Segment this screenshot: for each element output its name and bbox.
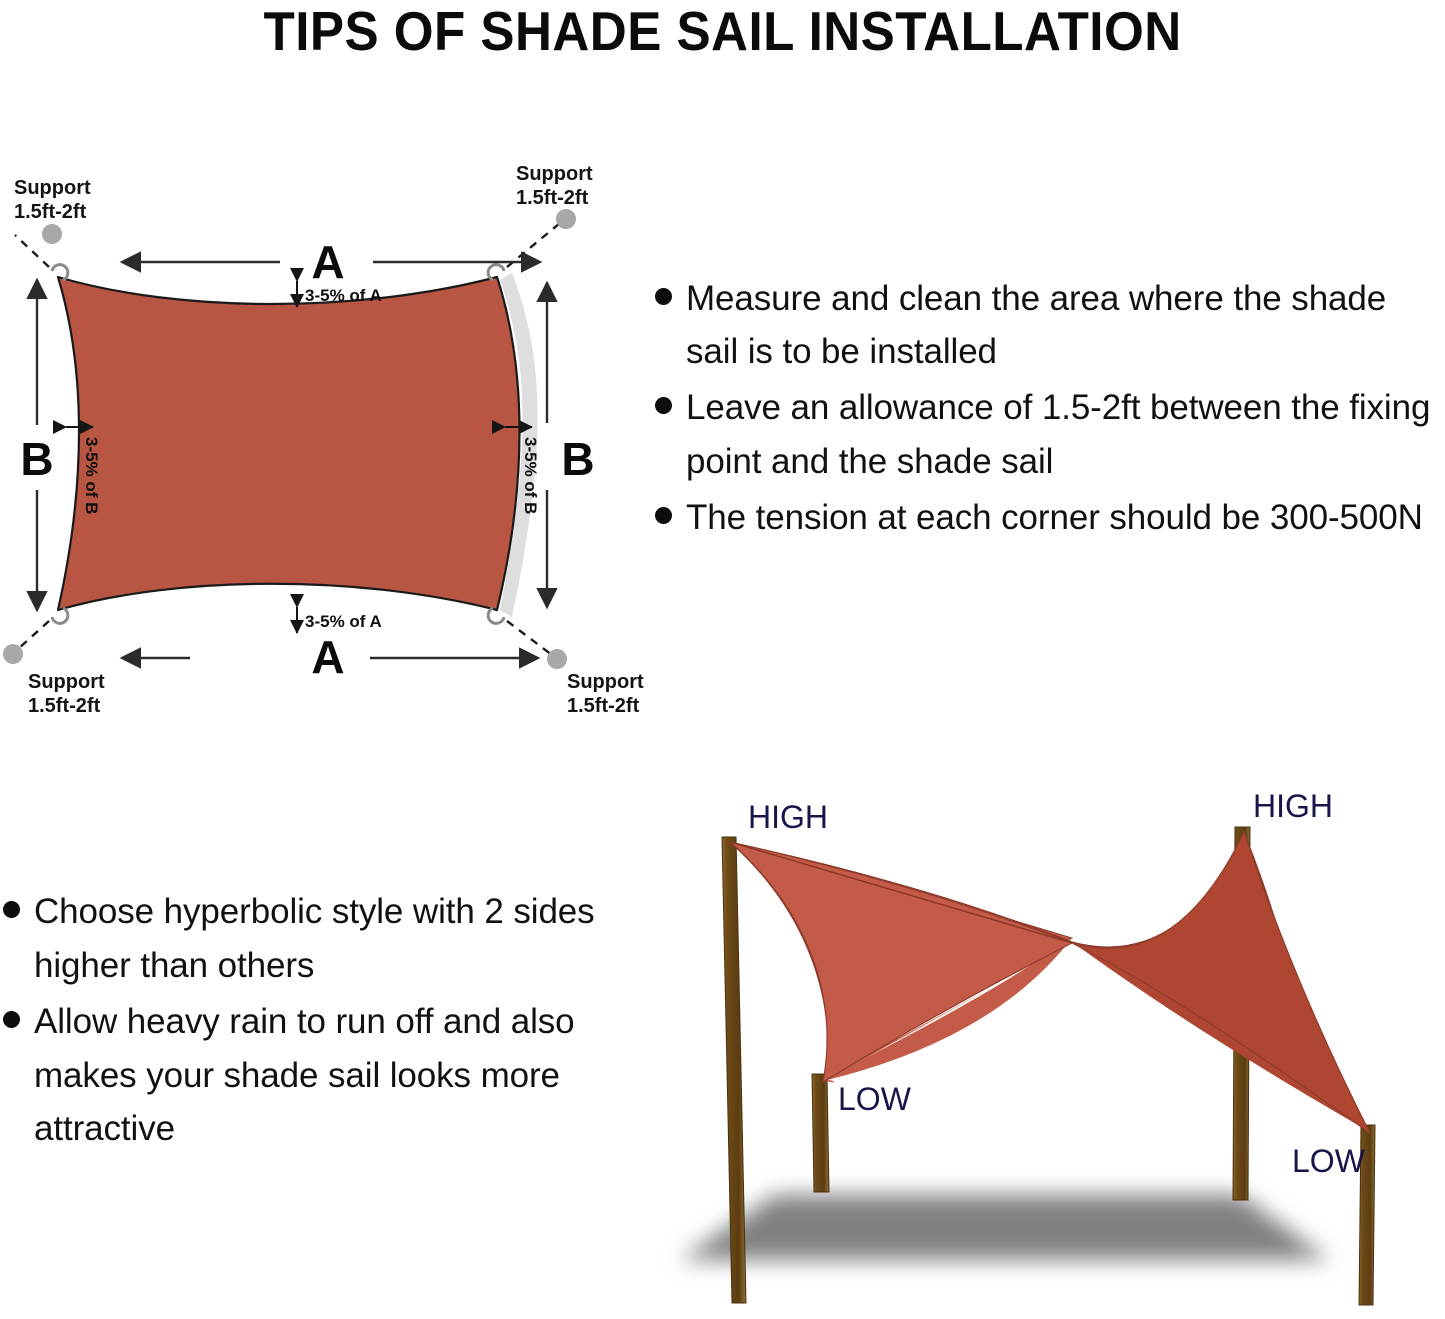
installation-tips-right-list: Measure and clean the area where the sha… (655, 272, 1445, 547)
support-label-top-right: Support 1.5ft-2ft (516, 163, 593, 209)
svg-text:1.5ft-2ft: 1.5ft-2ft (14, 201, 87, 223)
support-dot-bottom-right (547, 649, 567, 669)
ground-shadow (680, 1195, 1330, 1260)
page-title: TIPS OF SHADE SAIL INSTALLATION (263, 4, 1181, 59)
post-low-left (812, 1074, 829, 1192)
dimension-top-A: A (122, 236, 540, 288)
svg-text:1.5ft-2ft: 1.5ft-2ft (516, 187, 589, 209)
svg-text:1.5ft-2ft: 1.5ft-2ft (28, 695, 101, 717)
installation-tips-left-list: Choose hyperbolic style with 2 sides hig… (3, 885, 628, 1159)
bullet-dot-icon (655, 507, 672, 524)
bullet-dot-icon (655, 288, 672, 305)
support-dot-top-left (42, 224, 62, 244)
list-item: Choose hyperbolic style with 2 sides hig… (3, 885, 628, 992)
dimension-label-bottom-A: A (311, 631, 344, 683)
list-item: Leave an allowance of 1.5-2ft between th… (655, 381, 1445, 487)
svg-text:Support: Support (14, 177, 91, 199)
bullet-dot-icon (3, 1011, 20, 1028)
tip-text: Allow heavy rain to run off and also mak… (34, 995, 628, 1156)
label-high-left: HIGH (748, 799, 828, 835)
support-line-bottom-right (507, 621, 552, 655)
dimension-label-top-A: A (311, 236, 344, 288)
support-dot-top-right (556, 209, 576, 229)
label-high-right: HIGH (1253, 788, 1333, 824)
shade-sail-shape (58, 277, 520, 610)
support-label-top-left: Support 1.5ft-2ft (14, 177, 91, 223)
svg-text:Support: Support (567, 671, 644, 693)
sag-label-left: 3-5% of B (82, 437, 101, 514)
support-dot-bottom-left (3, 644, 23, 664)
bullet-dot-icon (3, 901, 20, 918)
dimension-label-left-B: B (20, 433, 53, 485)
label-low-right: LOW (1292, 1143, 1366, 1179)
page-header: TIPS OF SHADE SAIL INSTALLATION (0, 0, 1445, 62)
list-item: Allow heavy rain to run off and also mak… (3, 995, 628, 1156)
svg-text:1.5ft-2ft: 1.5ft-2ft (567, 695, 640, 717)
list-item: The tension at each corner should be 300… (655, 491, 1445, 544)
sag-label-right: 3-5% of B (521, 437, 540, 514)
sag-indicator-left: 3-5% of B (66, 427, 101, 514)
support-line-top-right (507, 223, 560, 267)
tip-text: Leave an allowance of 1.5-2ft between th… (686, 381, 1445, 487)
sail-saddle-right (1072, 832, 1370, 1133)
dimension-left-B: B (20, 280, 53, 610)
dimension-label-right-B: B (561, 433, 594, 485)
support-line-bottom-left (17, 621, 49, 650)
svg-text:Support: Support (516, 163, 593, 185)
sag-label-top: 3-5% of A (305, 286, 382, 305)
dimension-right-B: B (547, 283, 595, 607)
tip-text: Choose hyperbolic style with 2 sides hig… (34, 885, 628, 992)
sag-label-bottom: 3-5% of A (305, 612, 382, 631)
support-label-bottom-left: Support 1.5ft-2ft (28, 671, 105, 717)
bullet-dot-icon (655, 397, 672, 414)
list-item: Measure and clean the area where the sha… (655, 272, 1445, 378)
hyperbolic-sail-diagram: HIGH HIGH LOW LOW (640, 780, 1445, 1319)
rectangular-sail-diagram: Support 1.5ft-2ft Support 1.5ft-2ft Supp… (0, 155, 660, 755)
tip-text: The tension at each corner should be 300… (686, 491, 1423, 544)
svg-text:Support: Support (28, 671, 105, 693)
label-low-left: LOW (838, 1081, 912, 1117)
tip-text: Measure and clean the area where the sha… (686, 272, 1445, 378)
dimension-bottom-A: A (122, 631, 538, 683)
sag-indicator-bottom: 3-5% of A (297, 607, 382, 633)
support-label-bottom-right: Support 1.5ft-2ft (567, 671, 644, 717)
